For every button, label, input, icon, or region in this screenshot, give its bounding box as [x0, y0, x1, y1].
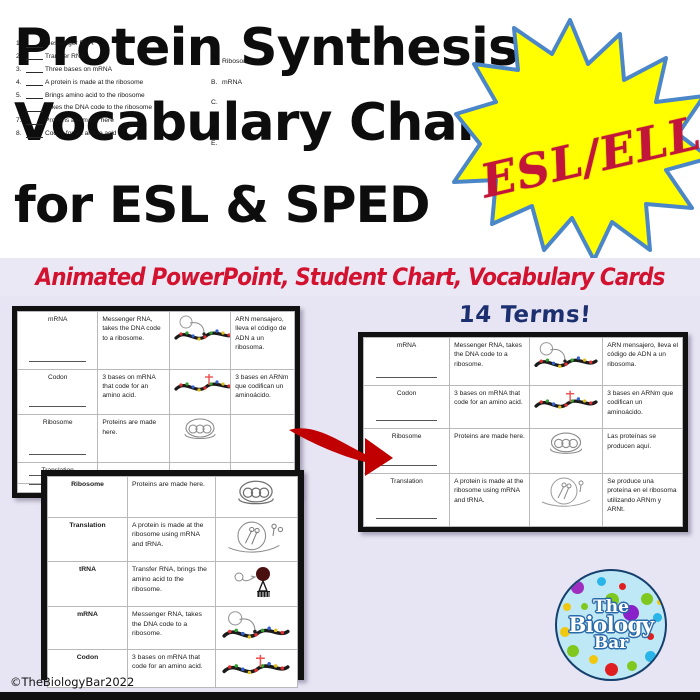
trna-icon: [231, 565, 281, 603]
ribosome-icon: [545, 432, 587, 462]
item-text: Codes for an amino acid: [45, 130, 116, 137]
brand-logo-text: The Biology Bar: [557, 571, 665, 679]
picture-cell: [529, 386, 602, 429]
spanish-cell: ARN mensajero, lleva el código de ADN a …: [603, 338, 683, 386]
answer-blank[interactable]: [26, 79, 43, 86]
vocabulary-cards-table: Ribosome Proteins are made here.: [47, 476, 298, 688]
item-number: 3.: [16, 66, 26, 74]
vocabulary-cards-card: Ribosome Proteins are made here.: [41, 470, 304, 680]
copyright-footer: ©TheBiologyBar2022: [10, 675, 134, 689]
picture-cell: [170, 415, 231, 462]
answer-blank[interactable]: [26, 53, 43, 60]
item-text: Takes the DNA code to the ribosome: [45, 104, 152, 111]
mrna-strand-icon: [222, 610, 290, 646]
term-cell: Ribosome: [48, 477, 128, 518]
list-item: 6.Takes the DNA code to the ribosome: [16, 104, 206, 112]
page-title-line-3: for ESL & SPED: [14, 180, 430, 230]
translation-icon: [538, 477, 594, 512]
picture-cell: [215, 649, 298, 688]
item-text: Transfer RNA: [45, 53, 85, 60]
matching-questions-list: 1.Messenger RNA 2.Transfer RNA 3.Three b…: [16, 40, 206, 143]
codon-strand-icon: [534, 389, 598, 418]
terms-count-badge: 14 Terms!: [404, 302, 646, 328]
subtitle-banner-text: Animated PowerPoint, Student Chart, Voca…: [36, 263, 665, 291]
english-cell: A protein is made at the ribosome using …: [128, 517, 216, 562]
spanish-cell: Se produce una proteína en el ribosoma u…: [603, 473, 683, 526]
table-row: Ribosome Proteins are made here. Las pro…: [364, 429, 683, 474]
english-cell: Transfer RNA, brings the amino acid to t…: [128, 562, 216, 607]
english-cell: Messenger RNA, takes the DNA code to a r…: [98, 312, 170, 370]
codon-strand-icon: [174, 373, 230, 400]
item-letter: C.: [211, 99, 222, 106]
list-item: 1.Messenger RNA: [16, 40, 206, 48]
list-item: 4.A protein is made at the ribosome: [16, 79, 206, 87]
english-cell: Proteins are made here.: [450, 429, 530, 474]
list-item: 3.Three bases on mRNA: [16, 66, 206, 74]
ribosome-icon: [180, 418, 220, 447]
logo-line-2: Biology: [568, 615, 653, 635]
answer-blank[interactable]: [26, 41, 43, 48]
list-item: Ribosome Proteins are made here.: [48, 477, 298, 518]
list-item: 5.Brings amino acid to the ribosome: [16, 92, 206, 100]
item-letter: D.: [211, 120, 222, 127]
table-row: Translation A protein is made at the rib…: [364, 473, 683, 526]
term-cell: mRNA: [48, 606, 128, 649]
item-text: Ribosome: [222, 58, 253, 65]
item-number: 6.: [16, 104, 26, 112]
english-cell: Proteins are made here.: [98, 415, 170, 462]
term-cell: Translation: [48, 517, 128, 562]
answer-blank[interactable]: [26, 92, 43, 99]
item-number: 5.: [16, 92, 26, 100]
table-row: Codon 3 bases on mRNA that code for an a…: [18, 369, 295, 415]
term-cell: mRNA: [18, 312, 98, 370]
list-item: A.Ribosome: [211, 58, 301, 65]
english-cell: 3 bases on mRNA that code for an amino a…: [128, 649, 216, 688]
item-text: Messenger RNA: [45, 40, 93, 47]
brand-logo: The Biology Bar: [555, 569, 667, 681]
english-cell: Messenger RNA, takes the DNA code to a r…: [450, 338, 530, 386]
codon-strand-icon: [222, 653, 290, 685]
english-cell: Messenger RNA, takes the DNA code to a r…: [128, 606, 216, 649]
ribosome-icon: [233, 480, 279, 514]
table-row: mRNA Messenger RNA, takes the DNA code t…: [18, 312, 295, 370]
answer-blank[interactable]: [26, 66, 43, 73]
item-number: 7.: [16, 117, 26, 125]
item-number: 2.: [16, 53, 26, 61]
item-letter: E.: [211, 140, 222, 147]
matching-answers-list: A.Ribosome B.mRNA C. D. E.: [211, 58, 301, 161]
item-text: mRNA: [222, 79, 242, 86]
table-row: mRNA Messenger RNA, takes the DNA code t…: [364, 338, 683, 386]
list-item: Translation A protein is made at the rib…: [48, 517, 298, 562]
english-cell: 3 bases on mRNA that code for an amino a…: [98, 369, 170, 415]
item-text: A protein is made at the ribosome: [45, 79, 143, 86]
item-number: 1.: [16, 40, 26, 48]
vocabulary-chart-table-right: mRNA Messenger RNA, takes the DNA code t…: [363, 337, 683, 527]
term-cell: Ribosome: [18, 415, 98, 462]
list-item: mRNA Messenger RNA, takes the DNA code t…: [48, 606, 298, 649]
translation-icon: [225, 521, 287, 559]
term-cell: mRNA: [364, 338, 450, 386]
list-item: 8.Codes for an amino acid: [16, 130, 206, 138]
picture-cell: [529, 473, 602, 526]
spanish-cell: 3 bases en ARNm que codifican un aminoác…: [603, 386, 683, 429]
student-chart-card-right: mRNA Messenger RNA, takes the DNA code t…: [358, 332, 688, 532]
english-cell: A protein is made at the ribosome using …: [450, 473, 530, 526]
mrna-strand-icon: [174, 315, 230, 346]
mrna-strand-icon: [534, 341, 598, 374]
list-item: tRNA Transfer RNA, brings the amino acid…: [48, 562, 298, 607]
term-cell: tRNA: [48, 562, 128, 607]
picture-cell: [215, 517, 298, 562]
spanish-cell: 3 bases en ARNm que codifican un aminoác…: [231, 369, 295, 415]
item-letter: B.: [211, 79, 222, 86]
list-item: E.: [211, 140, 301, 147]
term-cell: Codon: [18, 369, 98, 415]
list-item: B.mRNA: [211, 79, 301, 86]
answer-blank[interactable]: [26, 118, 43, 125]
list-item: D.: [211, 120, 301, 127]
subtitle-banner: Animated PowerPoint, Student Chart, Voca…: [0, 258, 700, 296]
english-cell: Proteins are made here.: [128, 477, 216, 518]
item-number: 8.: [16, 130, 26, 138]
spanish-cell: ARN mensajero, lleva el código de ADN a …: [231, 312, 295, 370]
logo-line-3: Bar: [594, 635, 628, 651]
item-number: 4.: [16, 79, 26, 87]
table-row: Codon 3 bases on mRNA that code for an a…: [364, 386, 683, 429]
table-row: Ribosome Proteins are made here.: [18, 415, 295, 462]
answer-blank[interactable]: [26, 105, 43, 112]
picture-cell: [170, 369, 231, 415]
list-item: C.: [211, 99, 301, 106]
spanish-cell: Las proteínas se producen aquí.: [603, 429, 683, 474]
picture-cell: [215, 606, 298, 649]
term-cell: Codon: [364, 386, 450, 429]
bottom-strip: [0, 692, 700, 700]
item-letter: A.: [211, 58, 222, 65]
list-item: 7.Proteins are made here: [16, 117, 206, 125]
starburst-badge: ESL/ELL: [452, 18, 700, 258]
item-text: Three bases on mRNA: [45, 66, 112, 73]
matching-body: 1.Messenger RNA 2.Transfer RNA 3.Three b…: [6, 40, 284, 168]
picture-cell: [215, 477, 298, 518]
picture-cell: [215, 562, 298, 607]
picture-cell: [170, 312, 231, 370]
vocabulary-chart-table-left: mRNA Messenger RNA, takes the DNA code t…: [17, 311, 295, 493]
picture-cell: [529, 429, 602, 474]
list-item: 2.Transfer RNA: [16, 53, 206, 61]
answer-blank[interactable]: [26, 131, 43, 138]
item-text: Brings amino acid to the ribosome: [45, 92, 145, 99]
picture-cell: [529, 338, 602, 386]
english-cell: 3 bases on mRNA that code for an amino a…: [450, 386, 530, 429]
item-text: Proteins are made here: [45, 117, 114, 124]
